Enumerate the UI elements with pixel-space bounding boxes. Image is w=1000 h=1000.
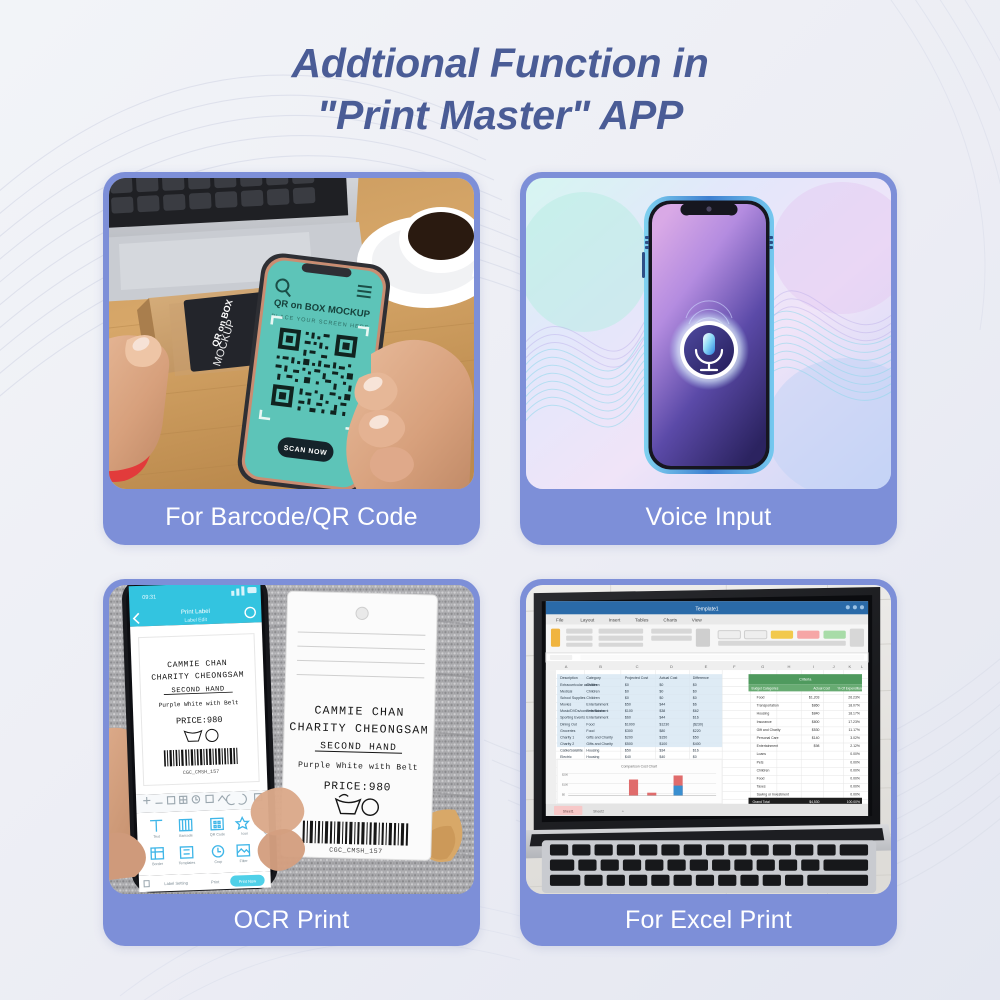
svg-text:$0: $0 [659,683,663,687]
scene-phone-ocr-clothing-tag: CAMMIE CHAN CHARITY CHEONGSAM SECOND HAN… [109,585,474,894]
svg-text:Templates: Templates [179,861,196,866]
svg-text:Icon: Icon [241,832,248,836]
svg-text:Gifts and Charity: Gifts and Charity [586,735,613,739]
svg-text:E: E [705,664,708,669]
svg-text:H: H [788,664,791,669]
svg-text:$50: $50 [625,749,631,753]
svg-text:$1,203: $1,203 [809,695,820,699]
svg-text:G: G [761,664,764,669]
svg-text:% Of Expenditure: % Of Expenditure [838,686,864,690]
svg-text:Sheet2: Sheet2 [593,809,604,813]
scene-laptop-spreadsheet: Template1 FileLayoutInsert TablesChartsV… [526,585,891,894]
svg-text:18.07%: 18.07% [848,704,860,708]
svg-text:$80: $80 [659,729,665,733]
svg-text:$800: $800 [812,720,820,724]
svg-text:J: J [833,664,835,669]
svg-text:Label Setting: Label Setting [164,880,188,886]
svg-text:$100: $100 [562,783,568,787]
svg-text:$860: $860 [812,704,820,708]
svg-text:Barcode: Barcode [179,833,193,837]
svg-text:Movies: Movies [560,703,571,707]
svg-text:A: A [565,664,568,669]
svg-text:Comparison Cost Chart: Comparison Cost Chart [621,764,657,768]
svg-text:Projected Cost: Projected Cost [625,676,648,680]
svg-text:CAMMIE CHAN: CAMMIE CHAN [314,704,405,719]
svg-text:3.02%: 3.02% [850,736,860,740]
svg-text:0.00%: 0.00% [850,768,860,772]
svg-text:Criteria: Criteria [799,678,812,682]
svg-text:Entertainment: Entertainment [757,744,778,748]
svg-text:Housing: Housing [757,712,770,716]
svg-text:$50: $50 [693,735,699,739]
svg-text:0.00%: 0.00% [850,760,860,764]
svg-text:$60: $60 [625,716,631,720]
svg-text:$44: $44 [659,703,665,707]
svg-text:$200: $200 [562,772,568,776]
svg-text:$300: $300 [625,729,633,733]
page-title-line-1: Addtional Function in [0,38,1000,90]
svg-text:I: I [813,664,814,669]
svg-text:$4,530: $4,530 [809,800,819,804]
feature-card-barcode-qr[interactable]: QR on BOX MOCKUP [103,172,480,545]
svg-text:$6: $6 [693,703,697,707]
card-media-barcode-qr: QR on BOX MOCKUP [109,178,474,489]
svg-text:$34: $34 [659,749,665,753]
svg-text:$62: $62 [693,709,699,713]
svg-text:Sporting Events: Sporting Events [560,716,585,720]
svg-text:Print Label: Print Label [181,609,210,616]
svg-text:Pets: Pets [757,760,764,764]
feature-card-ocr-print[interactable]: CAMMIE CHAN CHARITY CHEONGSAM SECOND HAN… [103,579,480,946]
svg-text:$0: $0 [693,696,697,700]
svg-text:Filter: Filter [240,859,249,863]
svg-text:Print: Print [211,879,220,884]
svg-text:B: B [599,664,602,669]
svg-text:QR Code: QR Code [210,832,225,837]
svg-text:$40: $40 [625,755,631,759]
svg-text:School Supplies: School Supplies [560,696,586,700]
svg-text:$1000: $1000 [625,722,635,726]
svg-text:CGC_CMSH_157: CGC_CMSH_157 [183,769,220,776]
svg-text:View: View [692,617,703,622]
svg-text:Personal Care: Personal Care [757,736,779,740]
svg-text:$0: $0 [562,793,565,797]
svg-text:Food: Food [757,695,765,699]
svg-text:Entertainment: Entertainment [586,709,608,713]
card-caption-excel-print: For Excel Print [526,894,891,946]
svg-text:Medical: Medical [560,689,572,693]
svg-text:Charts: Charts [663,617,677,622]
svg-text:($230): ($230) [693,722,703,726]
svg-text:$44: $44 [659,716,665,720]
svg-text:$200: $200 [625,735,633,739]
svg-text:C: C [636,664,639,669]
svg-text:D: D [670,664,673,669]
card-media-ocr-print: CAMMIE CHAN CHARITY CHEONGSAM SECOND HAN… [109,585,474,894]
svg-text:Children: Children [586,696,599,700]
svg-text:Children: Children [586,689,599,693]
svg-text:26.23%: 26.23% [848,695,860,699]
scene-phone-voice-waveform [526,178,891,489]
svg-text:Budget Categories: Budget Categories [752,686,779,690]
svg-text:Layout: Layout [580,617,595,622]
svg-text:Crop: Crop [214,860,222,864]
svg-text:Print Now: Print Now [239,878,257,884]
svg-text:$16: $16 [693,716,699,720]
svg-text:Charity 2: Charity 2 [560,742,574,746]
svg-text:$0: $0 [659,689,663,693]
svg-text:$220: $220 [693,729,701,733]
svg-text:Loans: Loans [757,752,767,756]
svg-text:$400: $400 [693,742,701,746]
svg-text:Insurance: Insurance [757,720,772,724]
svg-text:Children: Children [757,768,770,772]
svg-text:Cable/Satellite: Cable/Satellite [560,749,583,753]
feature-card-grid: QR on BOX MOCKUP [103,172,897,946]
svg-text:Gifts and Charity: Gifts and Charity [586,742,613,746]
page-title-line-2: "Print Master" APP [0,90,1000,142]
svg-text:$150: $150 [659,735,667,739]
svg-text:11.17%: 11.17% [849,728,860,732]
svg-text:Entertainment: Entertainment [586,703,608,707]
svg-text:$500: $500 [625,742,633,746]
svg-text:Grand Total: Grand Total [753,800,770,804]
svg-text:Groceries: Groceries [560,729,576,733]
svg-text:Gift and Charity: Gift and Charity [757,728,781,732]
svg-text:$16: $16 [693,749,699,753]
svg-text:$100: $100 [659,742,667,746]
feature-card-voice-input[interactable]: Voice Input [520,172,897,545]
svg-text:17.23%: 17.23% [848,720,860,724]
feature-card-excel-print[interactable]: Template1 FileLayoutInsert TablesChartsV… [520,579,897,946]
svg-text:$98: $98 [814,744,820,748]
svg-text:Actual Cost: Actual Cost [813,686,830,690]
svg-text:Transportation: Transportation [757,704,779,708]
svg-text:Saving or Investment: Saving or Investment [757,793,789,797]
svg-text:Children: Children [586,683,599,687]
svg-text:2.12%: 2.12% [850,744,860,748]
svg-text:PRICE:980: PRICE:980 [324,781,392,795]
page-title: Addtional Function in "Print Master" APP [0,38,1000,141]
svg-text:Actual Cost: Actual Cost [659,676,677,680]
svg-text:Taxes: Taxes [757,785,766,789]
svg-text:Tables: Tables [635,617,649,622]
svg-text:$100: $100 [625,709,633,713]
svg-text:$40: $40 [659,755,665,759]
svg-text:Sheet1: Sheet1 [563,809,574,813]
svg-text:$840: $840 [812,712,820,716]
svg-text:09:31: 09:31 [142,595,156,601]
svg-text:K: K [848,664,851,669]
svg-text:Electric: Electric [560,755,572,759]
svg-text:Food: Food [757,777,765,781]
svg-text:$0: $0 [693,689,697,693]
svg-text:CGC_CMSH_157: CGC_CMSH_157 [329,847,383,855]
svg-text:Label Edit: Label Edit [184,617,207,624]
svg-text:$0: $0 [625,683,629,687]
svg-text:PRICE:980: PRICE:980 [176,715,223,727]
svg-text:Food: Food [586,722,594,726]
svg-text:$50: $50 [625,703,631,707]
svg-text:Insert: Insert [609,617,621,622]
svg-text:0.00%: 0.00% [850,752,860,756]
svg-text:0.00%: 0.00% [850,777,860,781]
svg-text:Difference: Difference [693,676,709,680]
svg-text:Text: Text [153,835,160,839]
svg-text:0.00%: 0.00% [850,785,860,789]
svg-text:File: File [556,617,564,622]
svg-text:$140: $140 [812,736,820,740]
svg-text:$0: $0 [659,696,663,700]
svg-text:$0: $0 [693,755,697,759]
card-caption-barcode-qr: For Barcode/QR Code [109,489,474,545]
svg-text:$530: $530 [812,728,820,732]
svg-text:$1230: $1230 [659,722,669,726]
svg-text:$0: $0 [625,696,629,700]
svg-text:Housing: Housing [586,749,599,753]
svg-text:Charity 1: Charity 1 [560,735,574,739]
svg-text:Description: Description [560,676,578,680]
svg-text:$0: $0 [625,689,629,693]
svg-text:100.00%: 100.00% [847,800,860,804]
svg-text:$0: $0 [693,683,697,687]
svg-text:$38: $38 [659,709,665,713]
scene-hand-holding-phone-qr: QR on BOX MOCKUP [109,178,474,489]
svg-text:Category: Category [586,676,601,680]
svg-text:18.17%: 18.17% [848,712,860,716]
svg-text:0.00%: 0.00% [850,793,860,797]
card-media-excel-print: Template1 FileLayoutInsert TablesChartsV… [526,585,891,894]
svg-text:Border: Border [152,862,164,866]
svg-text:Template1: Template1 [695,606,718,612]
svg-text:Dining Out: Dining Out [560,722,577,726]
svg-text:Housing: Housing [586,755,599,759]
card-caption-ocr-print: OCR Print [109,894,474,946]
card-media-voice-input [526,178,891,489]
card-caption-voice-input: Voice Input [526,489,891,545]
svg-text:Entertainment: Entertainment [586,716,608,720]
svg-text:Food: Food [586,729,594,733]
